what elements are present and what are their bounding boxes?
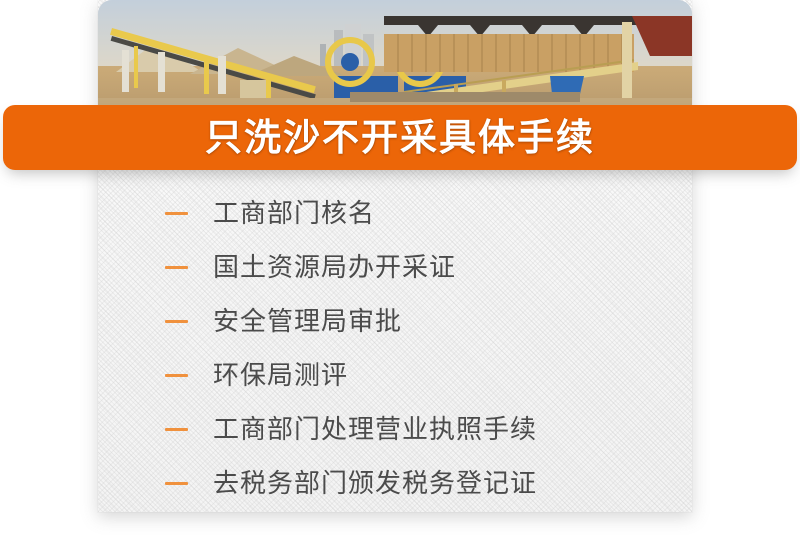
list-item: 工商部门核名 <box>98 186 692 240</box>
list-item-label: 工商部门核名 <box>213 200 375 226</box>
dash-bullet-icon <box>165 266 188 269</box>
list-item-label: 安全管理局审批 <box>213 308 402 334</box>
list-item: 去税务部门颁发税务登记证 <box>98 456 692 510</box>
dash-bullet-icon <box>165 212 188 215</box>
list-item-label: 去税务部门颁发税务登记证 <box>213 470 537 496</box>
list-item-label: 国土资源局办开采证 <box>213 254 456 280</box>
sand-washing-plant-photo <box>98 0 692 112</box>
dash-bullet-icon <box>165 374 188 377</box>
dash-bullet-icon <box>165 482 188 485</box>
list-item: 工商部门处理营业执照手续 <box>98 402 692 456</box>
list-item-label: 环保局测评 <box>213 362 348 388</box>
photo-illustration <box>98 0 692 112</box>
banner: 只洗沙不开采具体手续 <box>3 105 797 170</box>
dash-bullet-icon <box>165 428 188 431</box>
list-item: 国土资源局办开采证 <box>98 240 692 294</box>
steps-list: 工商部门核名 国土资源局办开采证 安全管理局审批 环保局测评 工商部门处理营业执… <box>98 172 692 512</box>
page-title: 只洗沙不开采具体手续 <box>205 119 595 156</box>
infographic-page: 只洗沙不开采具体手续 工商部门核名 国土资源局办开采证 安全管理局审批 环保局测… <box>0 0 800 544</box>
list-item: 环保局测评 <box>98 348 692 402</box>
list-item-label: 工商部门处理营业执照手续 <box>213 416 537 442</box>
dash-bullet-icon <box>165 320 188 323</box>
list-item: 安全管理局审批 <box>98 294 692 348</box>
